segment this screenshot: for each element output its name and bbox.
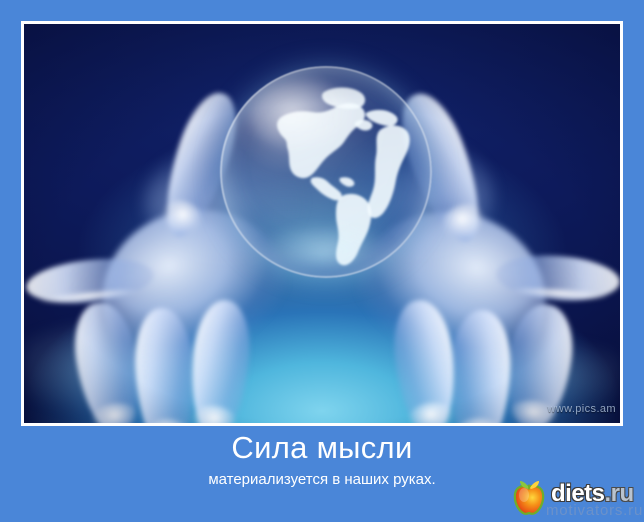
photo-frame: www.pics.am bbox=[21, 21, 623, 426]
poster-title: Сила мысли bbox=[0, 432, 644, 465]
photo-watermark: www.pics.am bbox=[547, 403, 616, 415]
diets-logo[interactable]: diets.ru motivators.ru bbox=[509, 477, 641, 519]
motivators-watermark: motivators.ru bbox=[546, 502, 643, 519]
photo-vignette bbox=[24, 24, 620, 423]
motivational-poster: www.pics.am Сила мысли материализуется в… bbox=[0, 0, 644, 522]
apple-icon bbox=[509, 477, 549, 517]
poster-photo: www.pics.am bbox=[24, 24, 620, 423]
